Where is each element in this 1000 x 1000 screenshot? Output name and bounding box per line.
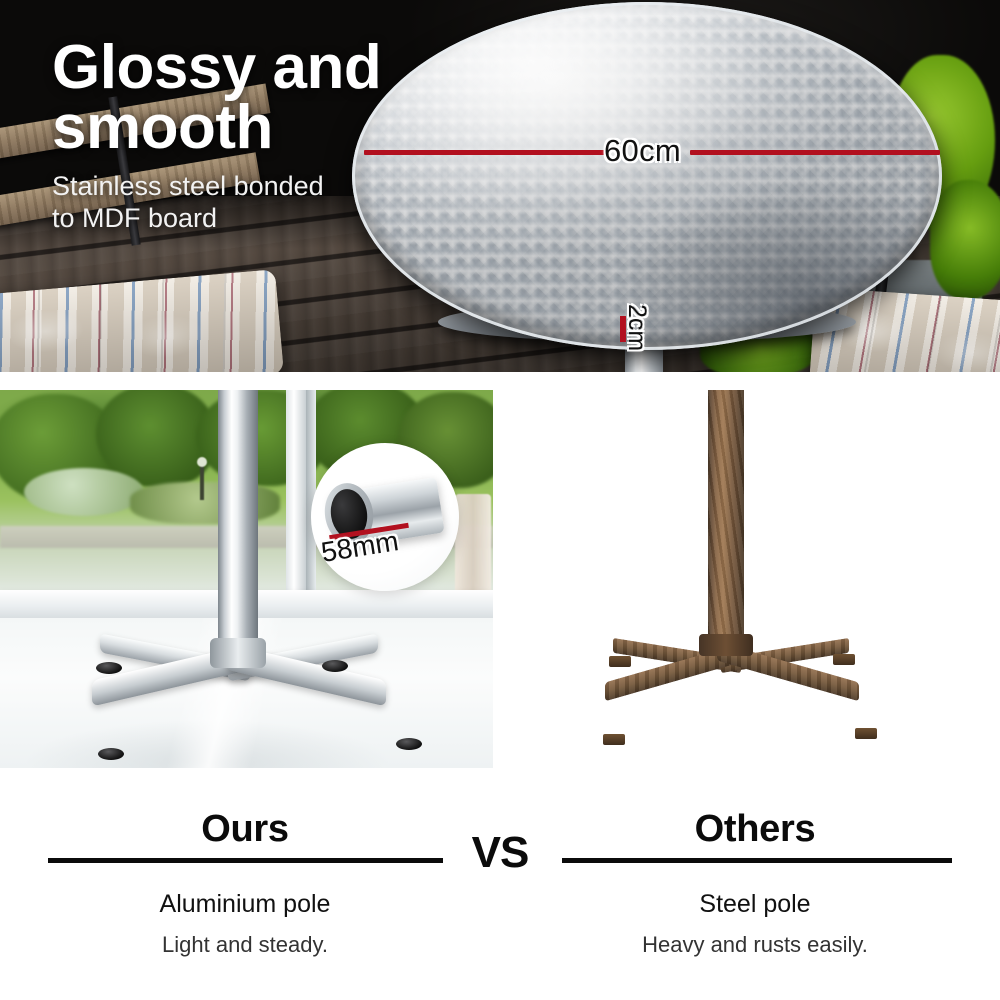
divider-left — [48, 858, 443, 863]
base-foot — [96, 662, 122, 674]
rusty-steel-base-photo — [493, 390, 1000, 768]
hero-title-line2: smooth — [52, 98, 452, 158]
hero-title-line1: Glossy and — [52, 38, 452, 98]
hero-subtitle-line1: Stainless steel bonded — [52, 171, 452, 203]
curtain — [455, 494, 491, 604]
pole-diameter-callout: 58mm — [311, 443, 459, 591]
comparison-photo-row — [0, 390, 1000, 768]
aluminium-pole — [218, 390, 258, 648]
window-frame — [286, 390, 306, 605]
thickness-label: 2cm — [622, 304, 651, 351]
garden-bush — [24, 468, 144, 516]
diameter-label: 60cm — [604, 133, 681, 169]
base-hub — [210, 638, 266, 668]
others-heading: Others — [605, 808, 905, 851]
ours-description: Light and steady. — [95, 932, 395, 958]
divider-right — [562, 858, 952, 863]
others-description: Heavy and rusts easily. — [605, 932, 905, 958]
garden-lamp — [200, 464, 204, 500]
rusty-steel-pole — [708, 390, 744, 642]
rusty-base-hub — [699, 634, 753, 656]
rusty-base-tip — [833, 654, 855, 665]
comparison-text-block — [0, 768, 1000, 1000]
rusty-base-tip — [603, 734, 625, 745]
vs-label: VS — [455, 828, 545, 878]
rusty-base-tip — [855, 728, 877, 739]
rusty-base-tip — [609, 656, 631, 667]
ours-subheading: Aluminium pole — [95, 890, 395, 919]
diameter-line-right — [690, 150, 940, 155]
hero-text-block: Glossy and smooth Stainless steel bonded… — [52, 38, 452, 235]
product-feature-image: 60cm 2cm Glossy and smooth Stainless ste… — [0, 0, 1000, 1000]
ours-heading: Ours — [95, 808, 395, 851]
others-subheading: Steel pole — [605, 890, 905, 919]
hero-subtitle-line2: to MDF board — [52, 203, 452, 235]
hero-panel: 60cm 2cm Glossy and smooth Stainless ste… — [0, 0, 1000, 372]
base-foot — [98, 748, 124, 760]
base-foot — [322, 660, 348, 672]
base-foot — [396, 738, 422, 750]
